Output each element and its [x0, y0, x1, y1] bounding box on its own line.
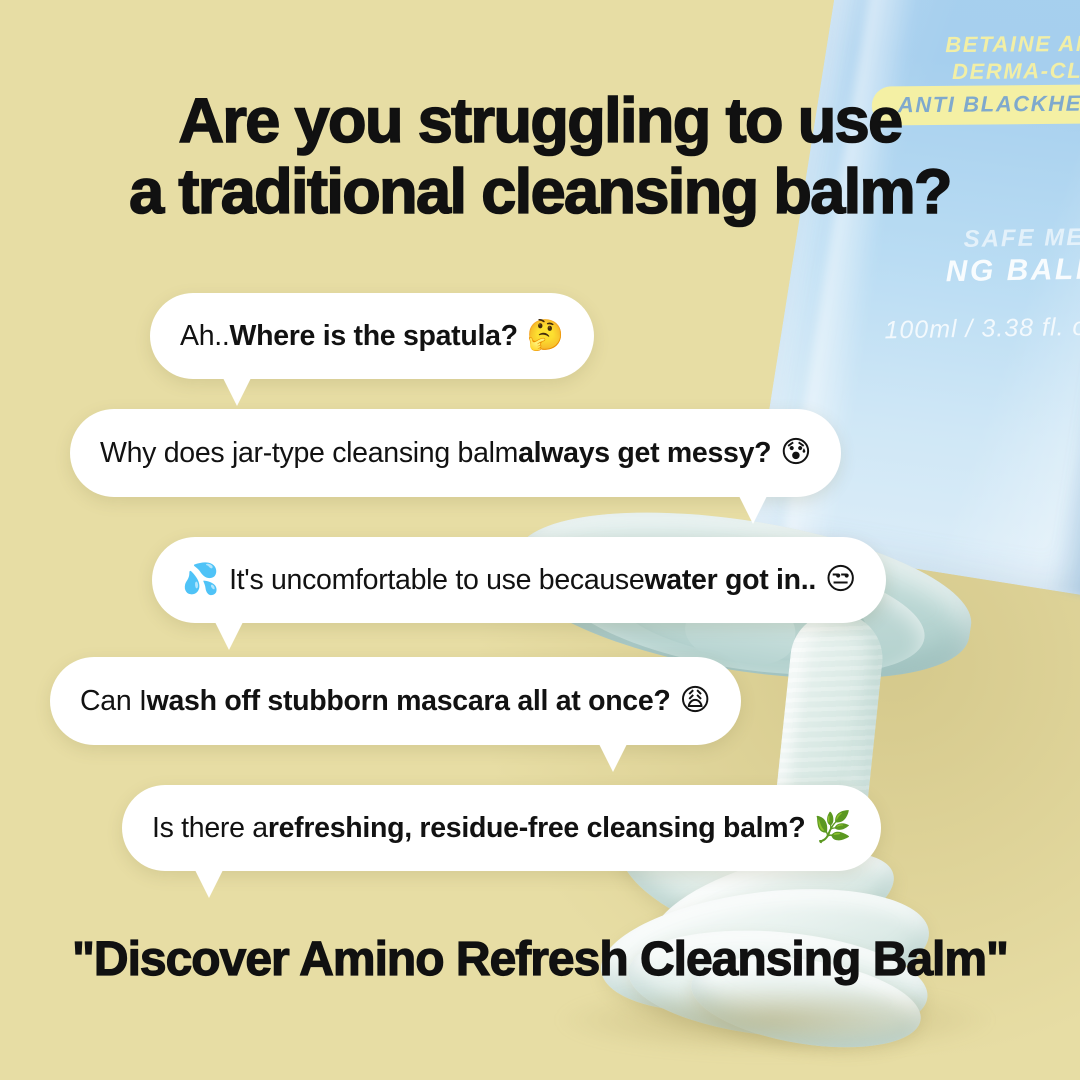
weary-face-emoji: 😩 — [680, 686, 711, 716]
bubble-text: Ah.. Where is the spatula?🤔 — [180, 320, 564, 353]
bottle-label-mid: SAFE ME NG BALM — [864, 221, 1080, 292]
anxious-face-with-sweat-emoji: 😰 — [780, 438, 811, 468]
bubble-text-bold: water got in.. — [644, 564, 816, 597]
bubble-text-regular: Can I — [80, 685, 147, 718]
bottle-volume-text: 100ml / 3.38 fl. oz. — [846, 312, 1080, 346]
bubble-tail — [194, 868, 224, 898]
thinking-face-emoji: 🤔 — [527, 321, 564, 351]
bubble-text-bold: always get messy? — [518, 437, 771, 470]
speech-bubble-messy: Why does jar-type cleansing balm always … — [70, 409, 841, 497]
bubble-text-bold: wash off stubborn mascara all at once? — [147, 685, 671, 718]
bubble-text: Can I wash off stubborn mascara all at o… — [80, 685, 711, 718]
bubble-text-bold: Where is the spatula? — [230, 320, 518, 353]
headline-line-1: Are you struggling to use — [178, 86, 901, 156]
bottle-label-mid-line2: NG BALM — [945, 253, 1080, 289]
bubble-text: Why does jar-type cleansing balm always … — [100, 437, 811, 470]
bubble-text: Is there a refreshing, residue-free clea… — [152, 812, 851, 845]
bubble-text-regular: It's uncomfortable to use because — [229, 564, 644, 597]
bubble-text-regular: Is there a — [152, 812, 268, 845]
bubble-text-regular: Why does jar-type cleansing balm — [100, 437, 518, 470]
bottle-label-mid-line1: SAFE ME — [963, 224, 1080, 253]
unamused-face-emoji: 😒 — [825, 565, 856, 595]
headline-line-2: a traditional cleansing balm? — [0, 157, 1080, 228]
bubble-text-regular: Ah.. — [180, 320, 230, 353]
bubble-tail — [738, 494, 768, 524]
herb-emoji: 🌿 — [814, 813, 851, 843]
speech-bubble-refreshing: Is there a refreshing, residue-free clea… — [122, 785, 881, 871]
bottom-tagline: "Discover Amino Refresh Cleansing Balm" — [0, 932, 1080, 987]
bubble-tail — [222, 376, 252, 406]
bubble-tail — [598, 742, 628, 772]
bottle-label-line2: DERMA-CLERA — [952, 58, 1080, 85]
speech-bubble-water: 💦It's uncomfortable to use because water… — [152, 537, 886, 623]
bubble-tail — [214, 620, 244, 650]
bubble-text: 💦It's uncomfortable to use because water… — [182, 564, 856, 597]
speech-bubble-mascara: Can I wash off stubborn mascara all at o… — [50, 657, 741, 745]
speech-bubble-spatula: Ah.. Where is the spatula?🤔 — [150, 293, 594, 379]
bubble-text-bold: refreshing, residue-free cleansing balm? — [268, 812, 806, 845]
headline: Are you struggling to use a traditional … — [0, 86, 1080, 227]
balm-floor-shadow — [560, 985, 990, 1055]
bottle-label-heading: BETAINE AMINO DERMA-CLERA — [877, 29, 1080, 86]
bottle-label-line1: BETAINE AMINO — [945, 30, 1080, 57]
sweat-droplets-emoji: 💦 — [182, 565, 219, 595]
promotional-graphic: BETAINE AMINO DERMA-CLERA ANTI BLACKHEAD… — [0, 0, 1080, 1080]
